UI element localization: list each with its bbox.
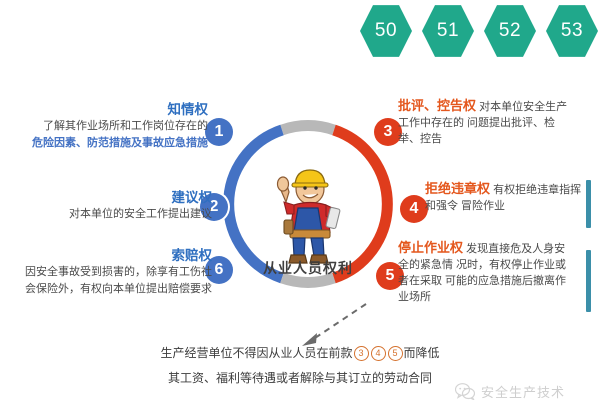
number-badge-4: 4	[400, 195, 428, 223]
teal-accent-bar	[586, 180, 591, 228]
right-title-5: 停止作业权	[398, 240, 463, 255]
circled-number: 4	[371, 346, 386, 361]
hexagon-label: 51	[437, 20, 459, 42]
bottom-note: 生产经营单位不得因从业人员在前款345而降低 其工资、福利等待遇或者解除与其订立…	[100, 341, 500, 391]
number-badge-1: 1	[205, 118, 233, 146]
right-item-1: 知情权 了解其作业场所和工作岗位存在的 危险因素、防范措施及事故应急措施	[0, 98, 208, 152]
bottom-note-line2: 其工资、福利等待遇或者解除与其订立的劳动合同	[100, 366, 500, 391]
right-desc-line: 了解其作业场所和工作岗位存在的	[0, 118, 208, 135]
right-desc-line: 因安全事故受到损害的，除享有工伤社	[0, 264, 212, 281]
badge-number: 4	[410, 200, 419, 218]
note-pre: 生产经营单位不得因从业人员在前款	[160, 346, 352, 360]
badge-number: 6	[215, 261, 224, 279]
badge-number: 5	[386, 267, 395, 285]
right-desc-line: 对本单位的安全工作提出建议	[0, 206, 212, 223]
hexagon-number-row: 50 51 52 53	[360, 4, 598, 58]
hexagon-badge: 52	[484, 4, 536, 58]
footer-brand-name: 安全生产技术	[481, 382, 565, 401]
hexagon-badge: 51	[422, 4, 474, 58]
footer-brand: 安全生产技术	[455, 382, 565, 401]
circled-number: 3	[354, 346, 369, 361]
right-item-5: 停止作业权 发现直接危及人身安全的紧急情 况时，有权停止作业或者在采取 可能的应…	[398, 240, 576, 305]
center-label: 从业人员权利	[222, 258, 394, 278]
right-title-1: 知情权	[0, 98, 208, 118]
right-desc-3: 批评、控告权 对本单位安全生产工作中存在的 问题提出批评、检举、控告	[398, 98, 576, 147]
right-item-6: 索赔权 因安全事故受到损害的，除享有工伤社 会保险外，有权向本单位提出赔偿要求	[0, 244, 212, 298]
right-item-4: 拒绝违章权 有权拒绝违章指挥和强令 冒险作业	[425, 181, 585, 214]
infographic-canvas: 50 51 52 53	[0, 0, 600, 415]
hexagon-label: 53	[561, 20, 583, 42]
right-desc-4: 拒绝违章权 有权拒绝违章指挥和强令 冒险作业	[425, 181, 585, 214]
circled-number: 5	[388, 346, 403, 361]
right-desc-line-highlight: 危险因素、防范措施及事故应急措施	[0, 135, 208, 152]
right-desc-line: 会保险外，有权向本单位提出赔偿要求	[0, 281, 212, 298]
teal-accent-bar	[586, 250, 591, 312]
worker-illustration	[260, 158, 356, 270]
hexagon-badge: 50	[360, 4, 412, 58]
wechat-icon	[455, 383, 475, 400]
badge-number: 3	[384, 123, 393, 141]
hexagon-label: 50	[375, 20, 397, 42]
right-title-4: 拒绝违章权	[425, 181, 490, 196]
right-title-3: 批评、控告权	[398, 98, 476, 113]
right-desc-5: 停止作业权 发现直接危及人身安全的紧急情 况时，有权停止作业或者在采取 可能的应…	[398, 240, 576, 305]
right-item-2: 建议权 对本单位的安全工作提出建议	[0, 186, 212, 223]
badge-number: 1	[215, 123, 224, 141]
note-post: 而降低	[404, 346, 440, 360]
hexagon-label: 52	[499, 20, 521, 42]
hexagon-badge: 53	[546, 4, 598, 58]
right-title-2: 建议权	[0, 186, 212, 206]
bottom-note-line1: 生产经营单位不得因从业人员在前款345而降低	[100, 341, 500, 366]
center-ring-diagram: 从业人员权利	[222, 118, 394, 290]
right-title-6: 索赔权	[0, 244, 212, 264]
right-item-3: 批评、控告权 对本单位安全生产工作中存在的 问题提出批评、检举、控告	[398, 98, 576, 147]
